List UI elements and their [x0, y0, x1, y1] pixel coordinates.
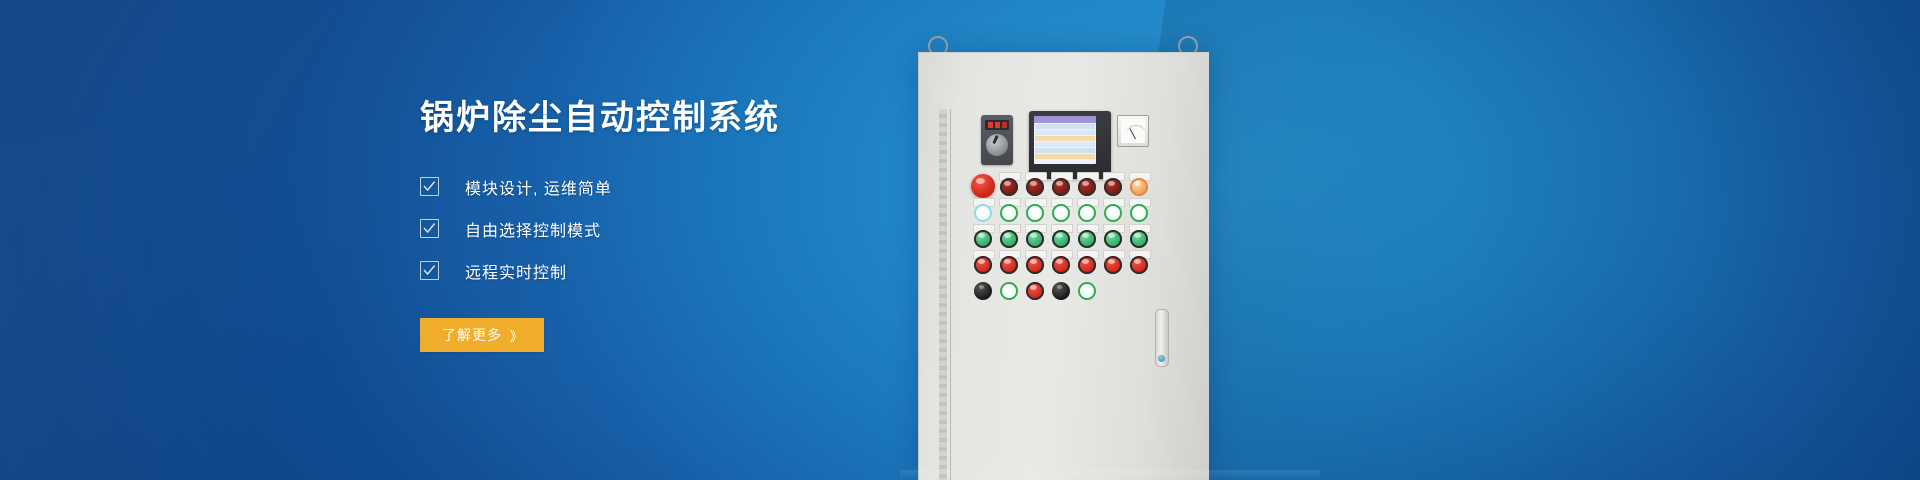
hmi-row: [1035, 148, 1095, 153]
checkbox-checked-icon: [420, 219, 439, 238]
selector-switch-row: [971, 279, 1161, 305]
lock-icon: [1158, 355, 1165, 362]
hmi-row-highlighted: [1035, 136, 1095, 141]
indicator-lamp[interactable]: [971, 253, 997, 279]
feature-list: 模块设计, 运维简单 自由选择控制模式 远程实时控制: [420, 170, 940, 287]
indicator-lamp[interactable]: [997, 253, 1023, 279]
indicator-lamp[interactable]: [1101, 253, 1127, 279]
hmi-touch-panel[interactable]: [1029, 111, 1111, 179]
indicator-lamp[interactable]: [1075, 253, 1101, 279]
indicator-lamp[interactable]: [1023, 253, 1049, 279]
feature-label: 模块设计, 运维简单: [465, 175, 612, 199]
cabinet-body: [918, 52, 1209, 480]
hmi-row: [1035, 142, 1095, 147]
banner-copy: 锅炉除尘自动控制系统 模块设计, 运维简单 自由选择控制模式 远程实时控制: [420, 96, 940, 352]
list-item: 自由选择控制模式: [420, 212, 940, 245]
learn-more-label: 了解更多: [442, 325, 502, 345]
vfd-display: [985, 120, 1009, 130]
hmi-title-bar: [1034, 116, 1096, 123]
hmi-row: [1035, 124, 1095, 129]
selector-switch[interactable]: [971, 279, 997, 305]
indicator-lamp[interactable]: [997, 279, 1023, 305]
list-item: 远程实时控制: [420, 254, 940, 287]
indicator-grid: [971, 175, 1161, 305]
cabinet-door-seam: [950, 109, 951, 480]
indicator-lamp[interactable]: [1075, 279, 1101, 305]
cabinet-hinge: [939, 109, 947, 480]
hmi-row: [1035, 130, 1095, 135]
learn-more-button[interactable]: 了解更多 》: [420, 318, 544, 352]
floor-highlight: [900, 470, 1320, 480]
hero-banner: 锅炉除尘自动控制系统 模块设计, 运维简单 自由选择控制模式 远程实时控制: [0, 0, 1920, 480]
feature-label: 远程实时控制: [465, 259, 567, 283]
hmi-row-highlighted: [1035, 154, 1095, 159]
red-pilot-row: [971, 253, 1161, 279]
cabinet-door-handle[interactable]: [1155, 309, 1169, 367]
meter-face: [1121, 119, 1145, 143]
checkbox-checked-icon: [420, 177, 439, 196]
vfd-keypad[interactable]: [981, 115, 1013, 165]
control-cabinet-photo: [900, 0, 1320, 480]
page-title: 锅炉除尘自动控制系统: [420, 96, 940, 140]
indicator-lamp[interactable]: [1127, 253, 1153, 279]
indicator-lamp[interactable]: [1049, 253, 1075, 279]
chevron-right-icon: 》: [510, 326, 522, 345]
hmi-screen[interactable]: [1034, 116, 1096, 164]
analog-panel-meter: [1117, 115, 1149, 147]
meter-scale: [1126, 125, 1146, 135]
indicator-lamp[interactable]: [1023, 279, 1049, 305]
vfd-knob-icon[interactable]: [986, 134, 1008, 156]
list-item: 模块设计, 运维简单: [420, 170, 940, 203]
feature-label: 自由选择控制模式: [465, 217, 601, 241]
checkbox-checked-icon: [420, 261, 439, 280]
selector-switch[interactable]: [1049, 279, 1075, 305]
